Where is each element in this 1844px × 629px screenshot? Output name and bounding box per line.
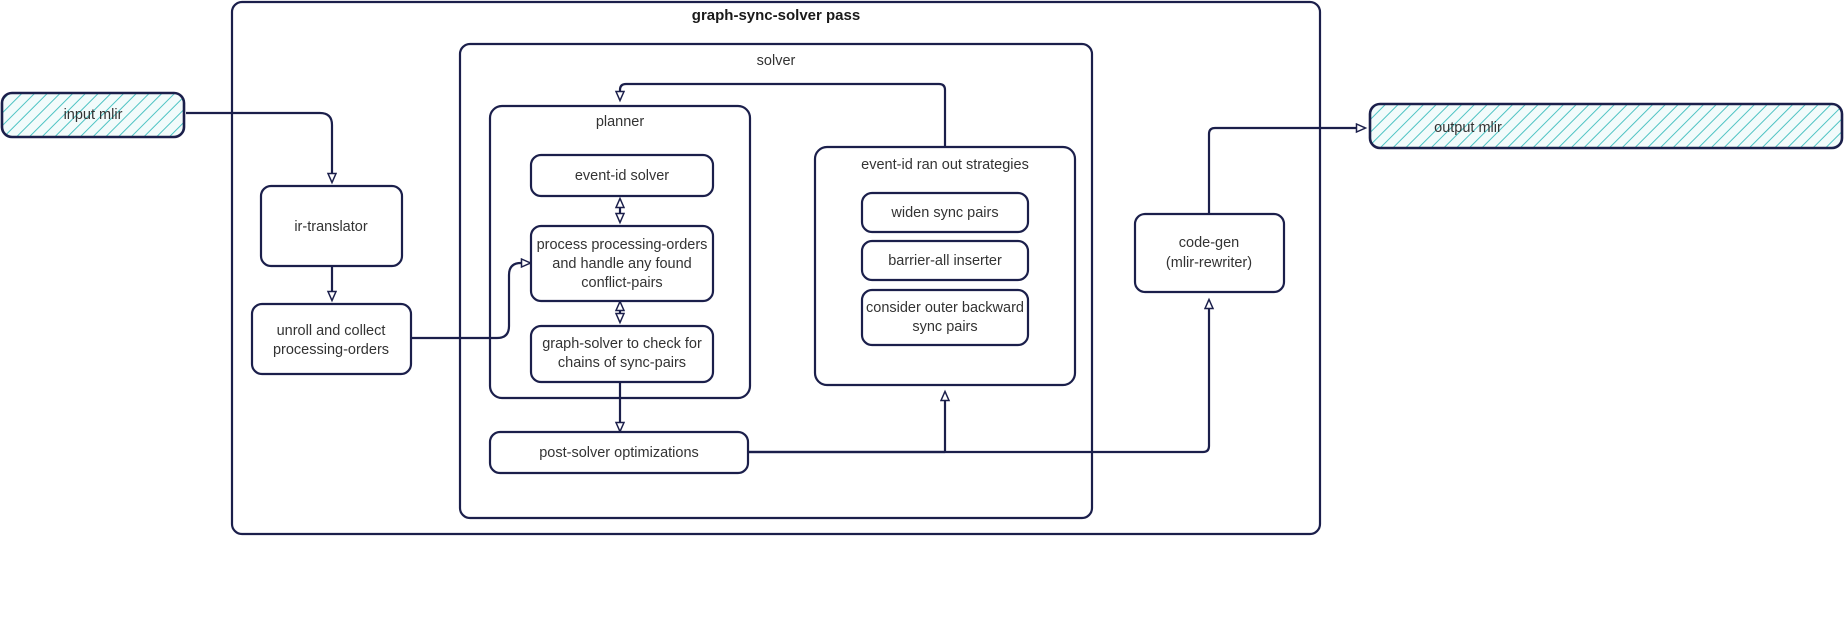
node-input-mlir[interactable]: input mlir bbox=[2, 93, 184, 137]
planner-title: planner bbox=[596, 114, 645, 130]
pass-title: graph-sync-solver pass bbox=[692, 7, 860, 24]
node-ir-translator[interactable]: ir-translator bbox=[261, 186, 402, 266]
codegen-label-line2: (mlir-rewriter) bbox=[1166, 255, 1252, 271]
process-label-line1: process processing-orders bbox=[537, 237, 708, 253]
process-label-line2: and handle any found bbox=[552, 256, 692, 272]
unroll-rect[interactable] bbox=[252, 304, 411, 374]
solver-title: solver bbox=[757, 53, 796, 69]
node-process-processing-orders[interactable]: process processing-orders and handle any… bbox=[531, 226, 713, 301]
consider-label-line2: sync pairs bbox=[912, 319, 977, 335]
event-id-solver-label: event-id solver bbox=[575, 168, 669, 184]
node-unroll-and-collect[interactable]: unroll and collect processing-orders bbox=[252, 304, 411, 374]
node-consider-outer-backward[interactable]: consider outer backward sync pairs bbox=[862, 290, 1028, 345]
node-graph-solver[interactable]: graph-solver to check for chains of sync… bbox=[531, 326, 713, 382]
architecture-diagram: graph-sync-solver pass solver planner ev… bbox=[0, 0, 1844, 629]
graph-solver-label-line1: graph-solver to check for bbox=[542, 336, 702, 352]
node-widen-sync-pairs[interactable]: widen sync pairs bbox=[862, 193, 1028, 232]
strategies-title: event-id ran out strategies bbox=[861, 157, 1029, 173]
process-label-line3: conflict-pairs bbox=[581, 275, 662, 291]
node-event-id-solver[interactable]: event-id solver bbox=[531, 155, 713, 196]
codegen-rect[interactable] bbox=[1135, 214, 1284, 292]
node-output-mlir[interactable]: output mlir bbox=[1370, 104, 1842, 148]
consider-label-line1: consider outer backward bbox=[866, 300, 1024, 316]
barrier-label: barrier-all inserter bbox=[888, 253, 1002, 269]
post-solver-label: post-solver optimizations bbox=[539, 445, 699, 461]
widen-label: widen sync pairs bbox=[890, 205, 998, 221]
codegen-label-line1: code-gen bbox=[1179, 235, 1239, 251]
unroll-label-line1: unroll and collect bbox=[277, 323, 386, 339]
node-code-gen[interactable]: code-gen (mlir-rewriter) bbox=[1135, 214, 1284, 292]
consider-rect[interactable] bbox=[862, 290, 1028, 345]
ir-translator-label: ir-translator bbox=[294, 219, 367, 235]
unroll-label-line2: processing-orders bbox=[273, 342, 389, 358]
node-barrier-all-inserter[interactable]: barrier-all inserter bbox=[862, 241, 1028, 280]
graph-solver-label-line2: chains of sync-pairs bbox=[558, 355, 686, 371]
output-mlir-label: output mlir bbox=[1434, 120, 1502, 136]
input-mlir-label: input mlir bbox=[64, 107, 123, 123]
node-post-solver-optimizations[interactable]: post-solver optimizations bbox=[490, 432, 748, 473]
diagram-canvas: graph-sync-solver pass solver planner ev… bbox=[0, 0, 1844, 629]
